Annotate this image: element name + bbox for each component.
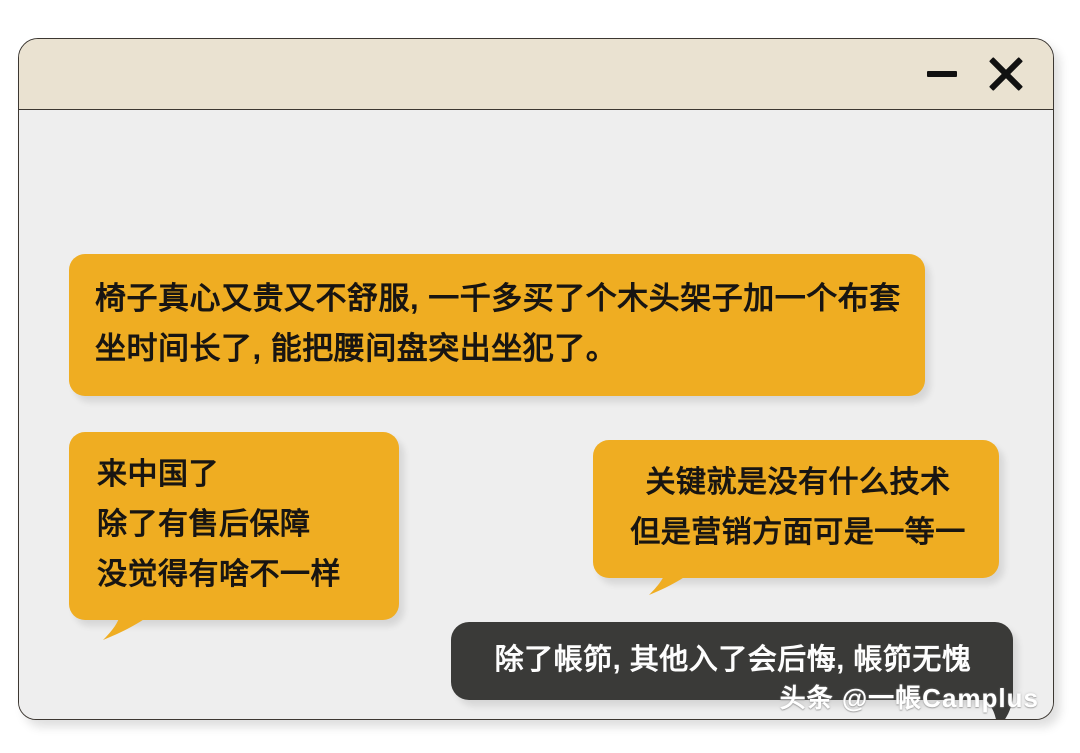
speech-bubble-1-tail bbox=[819, 335, 881, 383]
watermark: 头条 @一帳Camplus bbox=[780, 678, 1039, 715]
window-title-bar[interactable] bbox=[19, 39, 1053, 110]
bubble-2-line-1: 来中国了 bbox=[97, 450, 375, 500]
bubble-2-line-2: 除了有售后保障 bbox=[97, 500, 375, 550]
close-icon bbox=[989, 57, 1023, 91]
minimize-button[interactable] bbox=[913, 45, 971, 103]
app-window: 椅子真心又贵又不舒服, 一千多买了个木头架子加一个布套 坐时间长了, 能把腰间盘… bbox=[18, 38, 1054, 720]
bubble-1-line-2: 坐时间长了, 能把腰间盘突出坐犯了。 bbox=[95, 324, 899, 374]
bubble-1-line-1: 椅子真心又贵又不舒服, 一千多买了个木头架子加一个布套 bbox=[95, 274, 899, 324]
speech-bubble-2-tail bbox=[89, 590, 161, 642]
close-button[interactable] bbox=[977, 45, 1035, 103]
minimize-icon bbox=[927, 71, 957, 77]
window-content-area: 椅子真心又贵又不舒服, 一千多买了个木头架子加一个布套 坐时间长了, 能把腰间盘… bbox=[19, 110, 1053, 719]
bubble-3-line-1: 关键就是没有什么技术 bbox=[619, 458, 977, 508]
speech-bubble-3-tail bbox=[633, 545, 705, 597]
speech-bubble-1: 椅子真心又贵又不舒服, 一千多买了个木头架子加一个布套 坐时间长了, 能把腰间盘… bbox=[69, 254, 925, 396]
bubble-4-line-1: 除了帳笷, 其他入了会后悔, 帳笷无愧 bbox=[475, 636, 991, 684]
